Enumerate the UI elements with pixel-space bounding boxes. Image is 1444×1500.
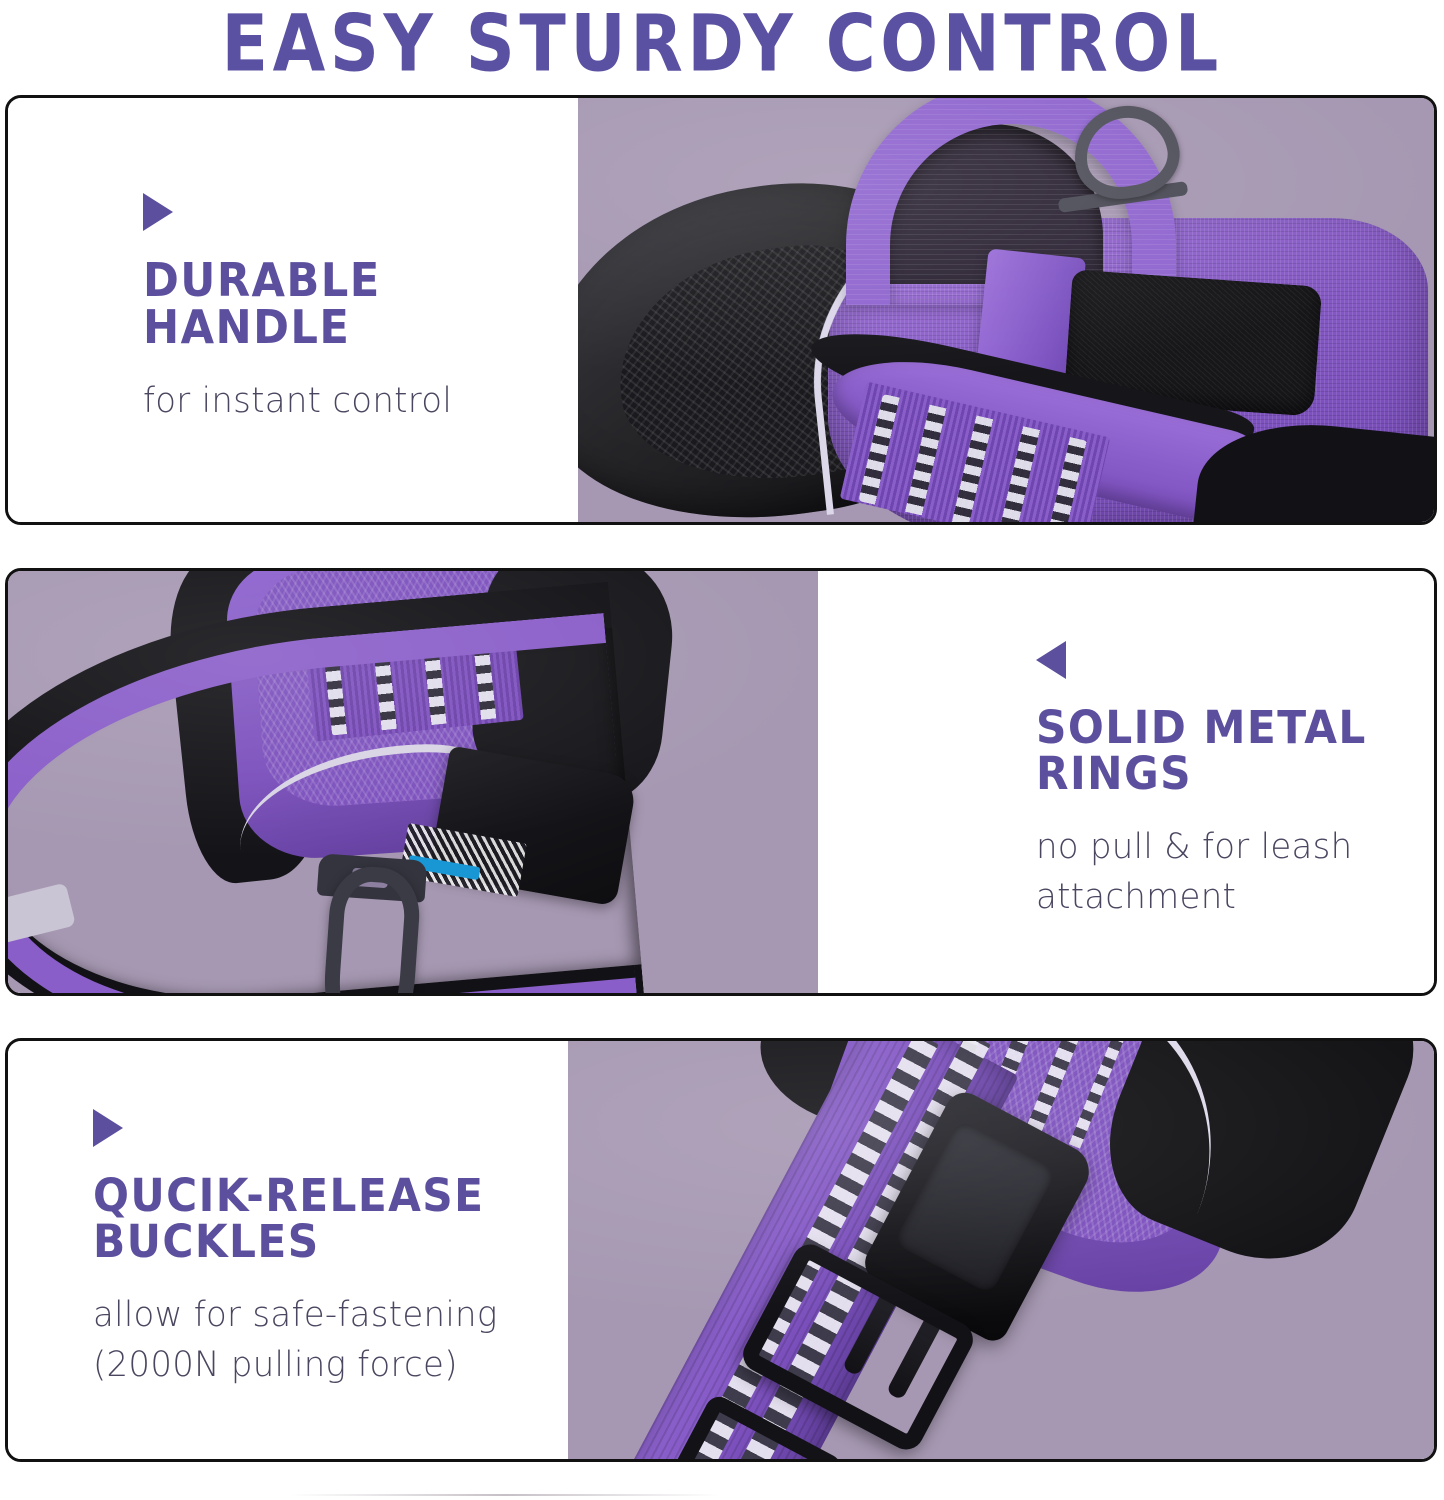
infographic-page: EASY STURDY CONTROL DURABLE HANDLE for i… bbox=[0, 0, 1444, 1500]
triangle-right-icon bbox=[143, 193, 173, 231]
panel-1-subline: for instant control bbox=[143, 377, 565, 427]
page-title-bar: EASY STURDY CONTROL bbox=[0, 0, 1444, 88]
panel-3-text-block: QUCIK-RELEASE BUCKLES allow for safe-fas… bbox=[8, 1041, 568, 1459]
panel-1-photo bbox=[578, 98, 1434, 522]
triangle-right-icon bbox=[93, 1109, 123, 1147]
panel-3-subline: allow for safe-fastening (2000N pulling … bbox=[93, 1291, 554, 1390]
panel-2-subline: no pull & for leash attachment bbox=[1036, 823, 1422, 922]
panel-3-photo bbox=[568, 1041, 1434, 1459]
panel-1-text-block: DURABLE HANDLE for instant control bbox=[8, 98, 578, 522]
feature-panel-durable-handle: DURABLE HANDLE for instant control bbox=[5, 95, 1437, 525]
panel-1-headline: DURABLE HANDLE bbox=[143, 257, 552, 351]
page-title: EASY STURDY CONTROL bbox=[221, 5, 1222, 83]
bottom-divider bbox=[290, 1494, 720, 1496]
triangle-left-icon bbox=[1036, 641, 1066, 679]
feature-panel-solid-metal-rings: SOLID METAL RINGS no pull & for leash at… bbox=[5, 568, 1437, 996]
feature-panel-quick-release-buckles: QUCIK-RELEASE BUCKLES allow for safe-fas… bbox=[5, 1038, 1437, 1462]
panel-2-headline: SOLID METAL RINGS bbox=[1036, 705, 1410, 797]
panel-2-text-block: SOLID METAL RINGS no pull & for leash at… bbox=[818, 571, 1434, 993]
panel-2-photo bbox=[8, 571, 818, 993]
panel-3-headline: QUCIK-RELEASE BUCKLES bbox=[93, 1173, 540, 1265]
